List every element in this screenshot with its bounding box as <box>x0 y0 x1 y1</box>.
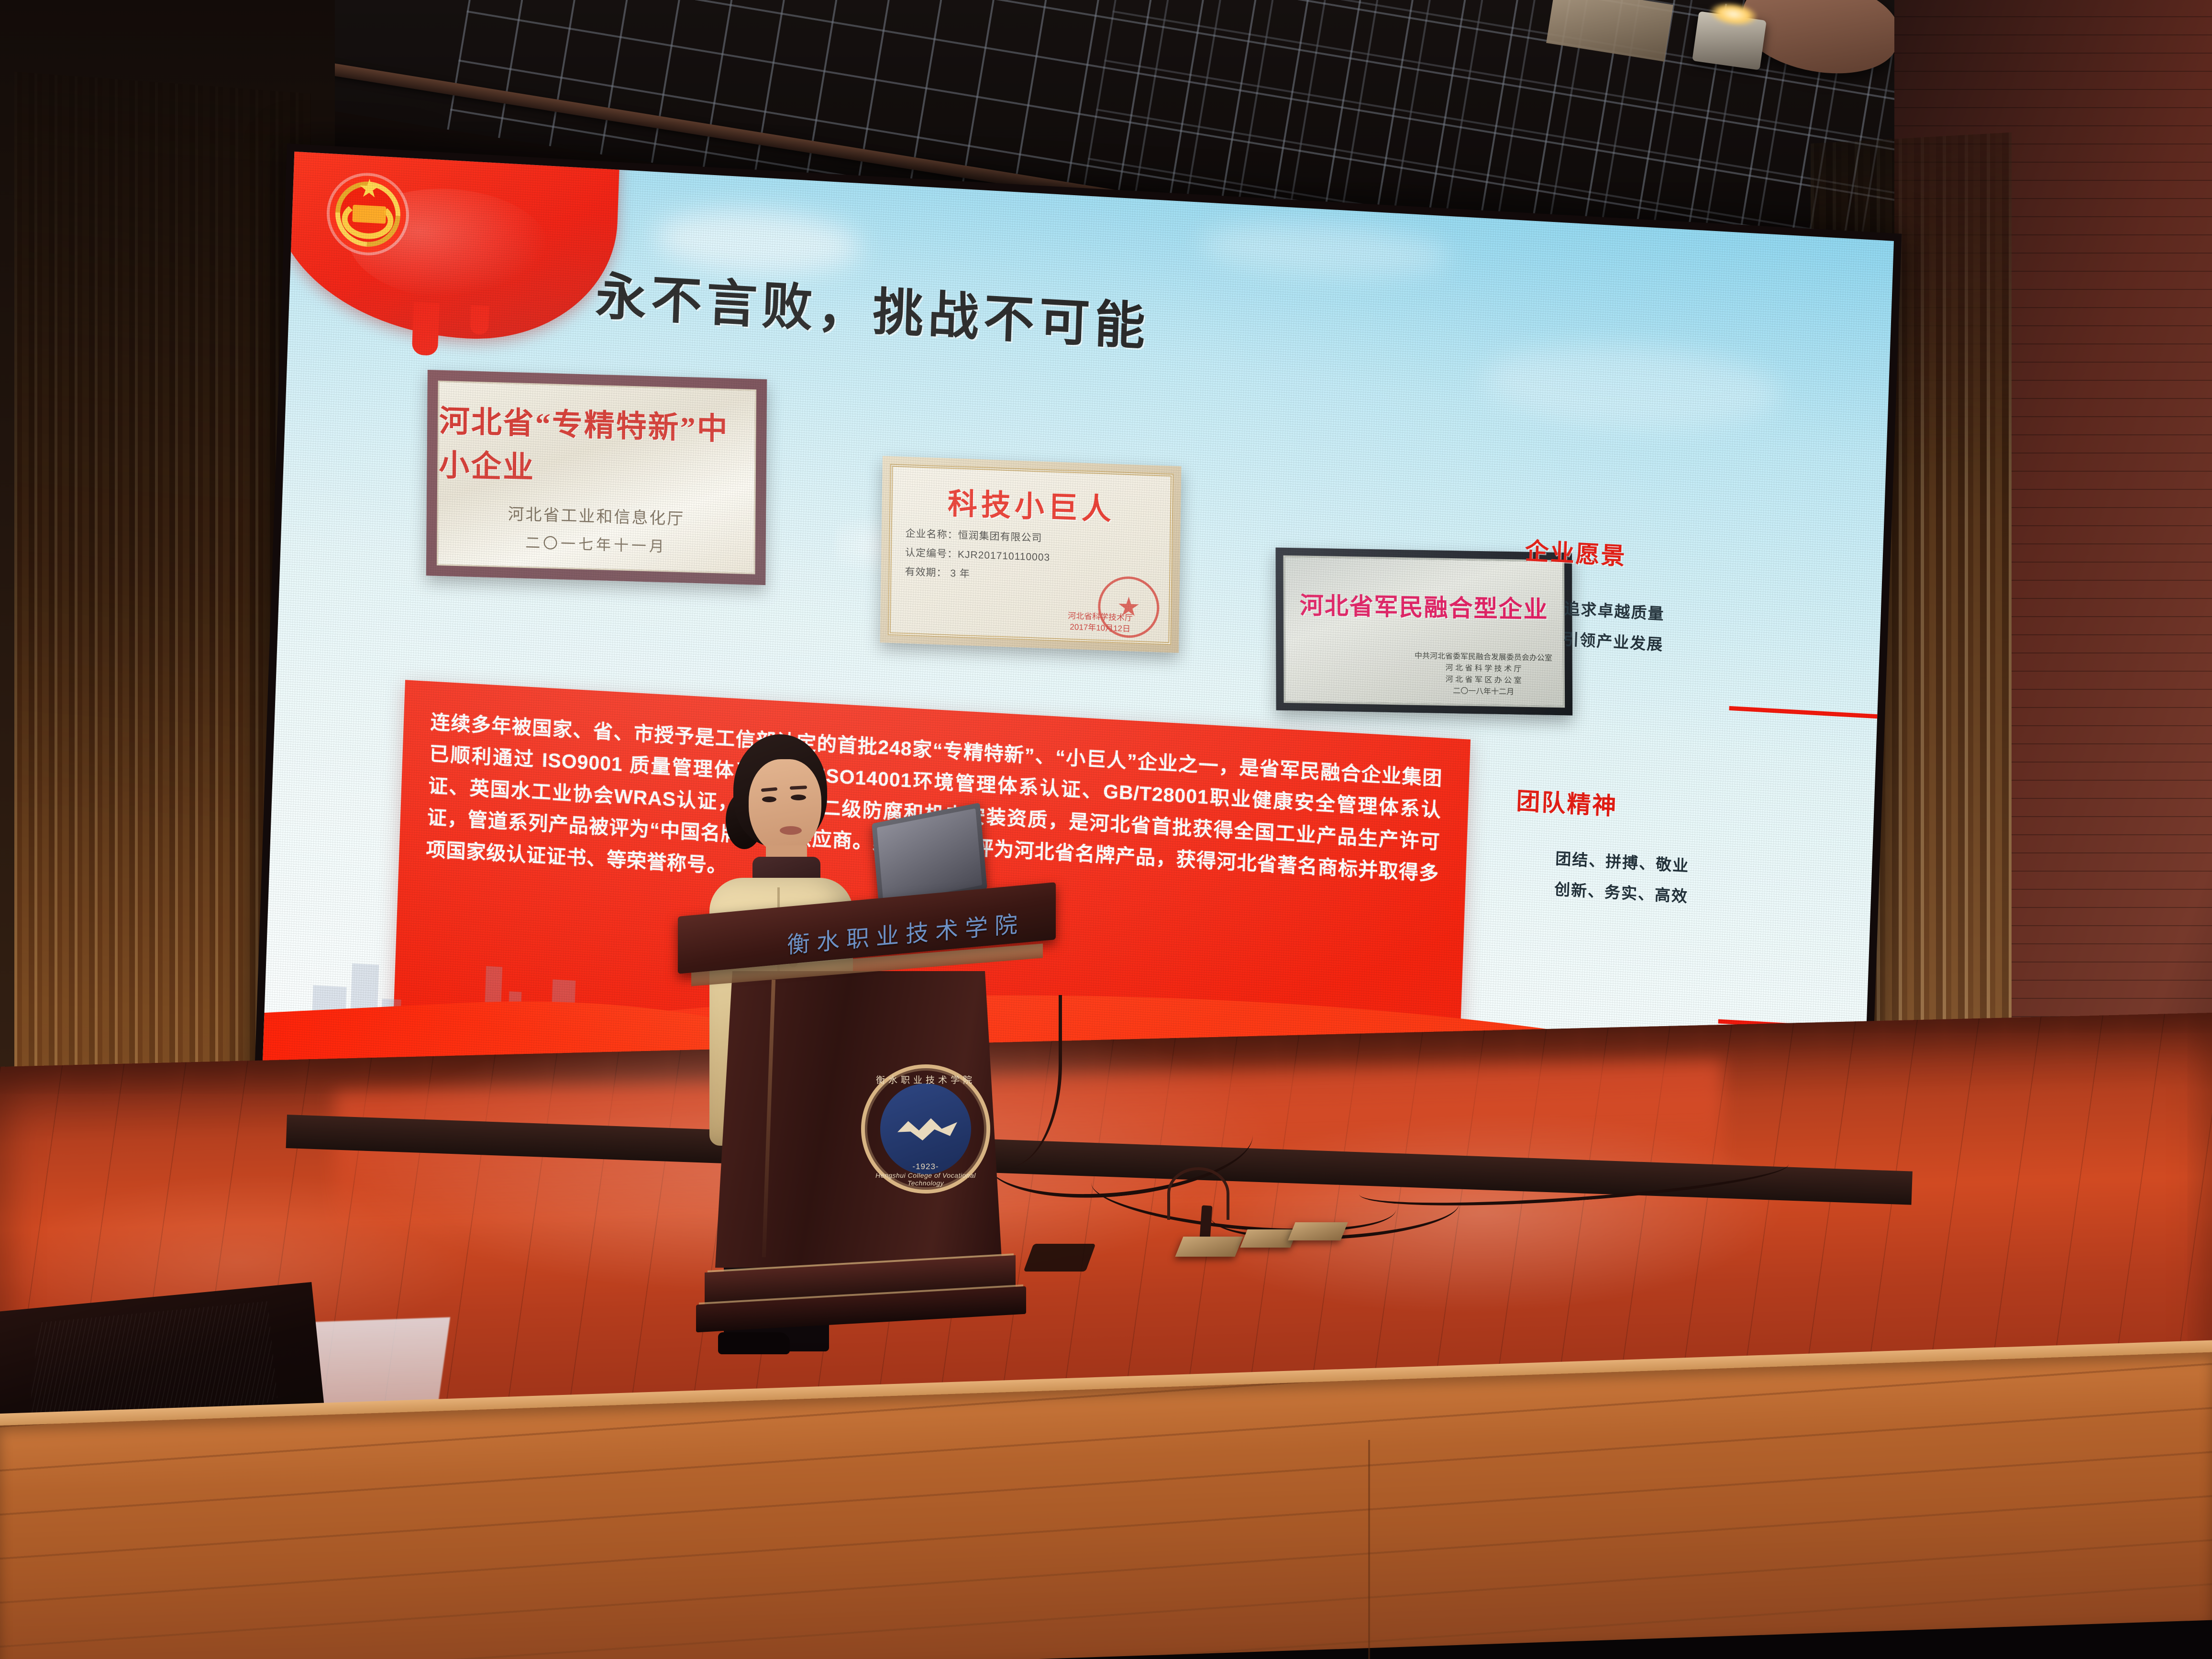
floor-junction-box <box>1023 1244 1095 1272</box>
award-certificate-keji-xiaojuren: 科技小巨人 企业名称：恒润集团有限公司 认定编号：KJR201710110003… <box>880 456 1182 653</box>
face <box>749 759 821 854</box>
college-emblem: 衡水职业技术学院 -1923- Hengshui College of Voca… <box>861 1064 990 1194</box>
divider-line <box>1729 706 1882 719</box>
cloud <box>1200 217 1450 283</box>
plaque-2-seal-text: 河北省科学技术厅2017年10月12日 <box>1040 610 1160 636</box>
plaque-1-issuer: 河北省工业和信息化厅 <box>508 501 685 529</box>
plaque-2-company: 企业名称：恒润集团有限公司 <box>905 526 1156 549</box>
apron-panel-seam <box>1368 1440 1370 1659</box>
spirit-lines: 团结、拼搏、敬业 创新、务实、高效 <box>1554 843 1845 921</box>
auditorium-stage-photo: 永不言败，挑战不可能 河北省“专精特新”中小企业 河北省工业和信息化厅 二〇一七… <box>0 0 2212 1659</box>
communist-youth-league-emblem <box>328 174 407 254</box>
emblem-name-cn: 衡水职业技术学院 <box>861 1073 990 1086</box>
vision-lines: 追求卓越质量 引领产业发展 <box>1562 593 1853 671</box>
emblem-name-en: Hengshui College of Vocational Technolog… <box>861 1172 990 1187</box>
slide-title: 永不言败，挑战不可能 <box>595 255 1151 360</box>
emblem-year: -1923- <box>861 1162 990 1172</box>
lectern-podium: 衡水职业技术学院 衡水职业技术学院 -1923- Hengshui Colleg… <box>696 899 1031 1335</box>
cloud <box>1482 338 1781 436</box>
eye <box>762 796 776 802</box>
award-plaque-zhuanjingtexin: 河北省“专精特新”中小企业 河北省工业和信息化厅 二〇一七年十一月 <box>426 370 767 585</box>
plaque-1-date: 二〇一七年十一月 <box>525 531 667 556</box>
plaque-2-title: 科技小巨人 <box>906 478 1157 530</box>
red-flag-banner <box>269 152 620 347</box>
plaque-1-title: 河北省“专精特新”中小企业 <box>439 397 755 494</box>
mouth <box>780 826 802 835</box>
spirit-heading: 团队精神 <box>1515 782 1847 834</box>
stage-spotlight <box>1692 11 1767 70</box>
plaque-3-title: 河北省军民融合型企业 <box>1298 586 1550 625</box>
plaque-2-number: 认定编号：KJR201710110003 <box>905 545 1156 568</box>
eye <box>791 795 806 800</box>
vision-heading: 企业愿景 <box>1525 532 1856 585</box>
mic-cable-loop <box>1167 1167 1229 1220</box>
spirit-block: 团队精神 团结、拼搏、敬业 创新、务实、高效 <box>1513 782 1847 921</box>
floor-plate <box>1288 1222 1348 1240</box>
floor-plate <box>1175 1237 1243 1257</box>
shoe <box>718 1332 790 1354</box>
